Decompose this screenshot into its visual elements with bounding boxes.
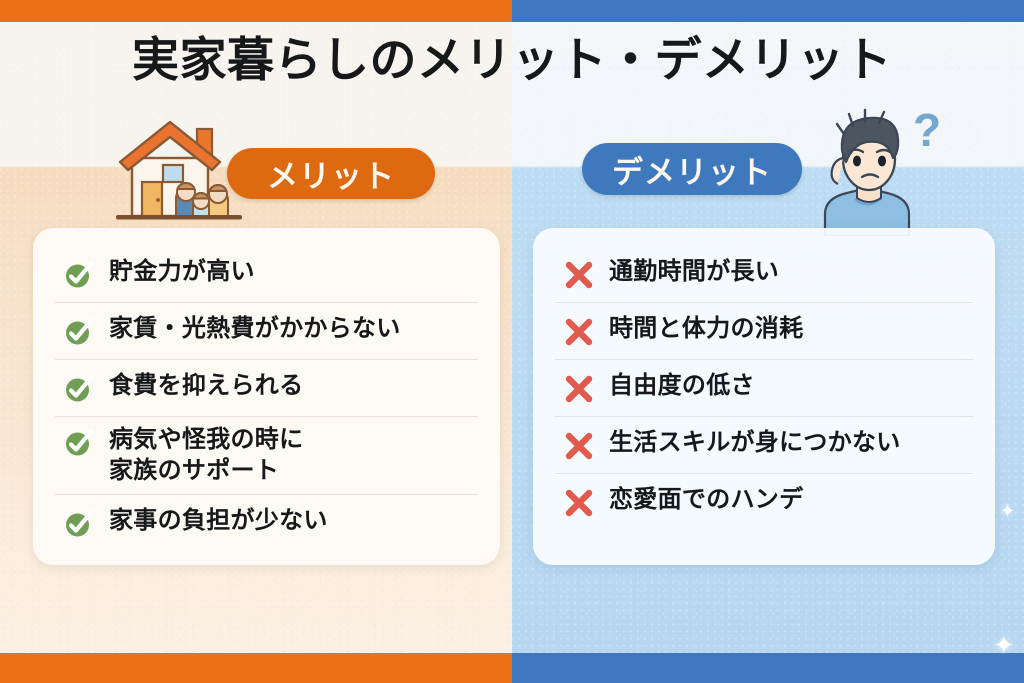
check-circle-icon xyxy=(63,373,95,405)
sparkle-decoration: ✦ xyxy=(1000,502,1015,520)
cross-mark-icon xyxy=(563,316,595,348)
merit-card: 貯金力が高い 家賃・光熱費がかからない 食費を抑えられる xyxy=(33,228,500,565)
top-accent-bar-orange xyxy=(0,0,512,22)
cross-mark-icon xyxy=(563,259,595,291)
list-item: 自由度の低さ xyxy=(555,360,973,417)
demerit-card: 通勤時間が長い 時間と体力の消耗 自由度の低さ 生活スキルが身につかない xyxy=(533,228,995,565)
list-item: 貯金力が高い xyxy=(55,246,478,303)
badge-merit-label: メリット xyxy=(267,151,395,196)
bottom-accent-bar-blue xyxy=(512,653,1024,683)
badge-demerit-label: デメリット xyxy=(612,147,772,192)
check-circle-icon xyxy=(63,316,95,348)
top-accent-bar-blue xyxy=(512,0,1024,22)
cross-mark-icon xyxy=(563,487,595,519)
list-item-label: 生活スキルが身につかない xyxy=(609,428,901,459)
bottom-accent-bar-orange xyxy=(0,653,512,683)
infographic-canvas: 実家暮らしのメリット・デメリット ? xyxy=(0,0,1024,683)
list-item: 生活スキルが身につかない xyxy=(555,417,973,474)
list-item-label: 家賃・光熱費がかからない xyxy=(109,314,401,345)
question-mark-decoration: ? xyxy=(913,104,941,156)
badge-merit[interactable]: メリット xyxy=(227,148,435,199)
check-circle-icon xyxy=(63,508,95,540)
list-item-label: 自由度の低さ xyxy=(609,371,755,402)
list-item: 通勤時間が長い xyxy=(555,246,973,303)
cross-mark-icon xyxy=(563,373,595,405)
badge-demerit[interactable]: デメリット xyxy=(582,143,802,195)
list-item-label: 時間と体力の消耗 xyxy=(609,314,803,345)
list-item: 恋愛面でのハンデ xyxy=(555,474,973,530)
sparkle-decoration: ✦ xyxy=(993,632,1015,658)
page-title: 実家暮らしのメリット・デメリット xyxy=(0,34,1024,87)
list-item-label: 恋愛面でのハンデ xyxy=(609,485,803,516)
merit-list: 貯金力が高い 家賃・光熱費がかからない 食費を抑えられる xyxy=(33,228,500,565)
list-item: 病気や怪我の時に 家族のサポート xyxy=(55,417,478,495)
list-item-label: 通勤時間が長い xyxy=(609,257,779,288)
list-item: 食費を抑えられる xyxy=(55,360,478,417)
list-item-label: 家事の負担が少ない xyxy=(109,506,328,537)
list-item: 家賃・光熱費がかからない xyxy=(55,303,478,360)
check-circle-icon xyxy=(63,259,95,291)
list-item: 家事の負担が少ない xyxy=(55,495,478,551)
list-item-label: 貯金力が高い xyxy=(109,257,255,288)
cross-mark-icon xyxy=(563,430,595,462)
list-item-label: 病気や怪我の時に 家族のサポート xyxy=(109,425,303,486)
check-circle-icon xyxy=(63,427,95,459)
list-item-label: 食費を抑えられる xyxy=(109,371,303,402)
list-item: 時間と体力の消耗 xyxy=(555,303,973,360)
demerit-list: 通勤時間が長い 時間と体力の消耗 自由度の低さ 生活スキルが身につかない xyxy=(533,228,995,565)
confused-person-illustration: ? xyxy=(795,104,945,236)
